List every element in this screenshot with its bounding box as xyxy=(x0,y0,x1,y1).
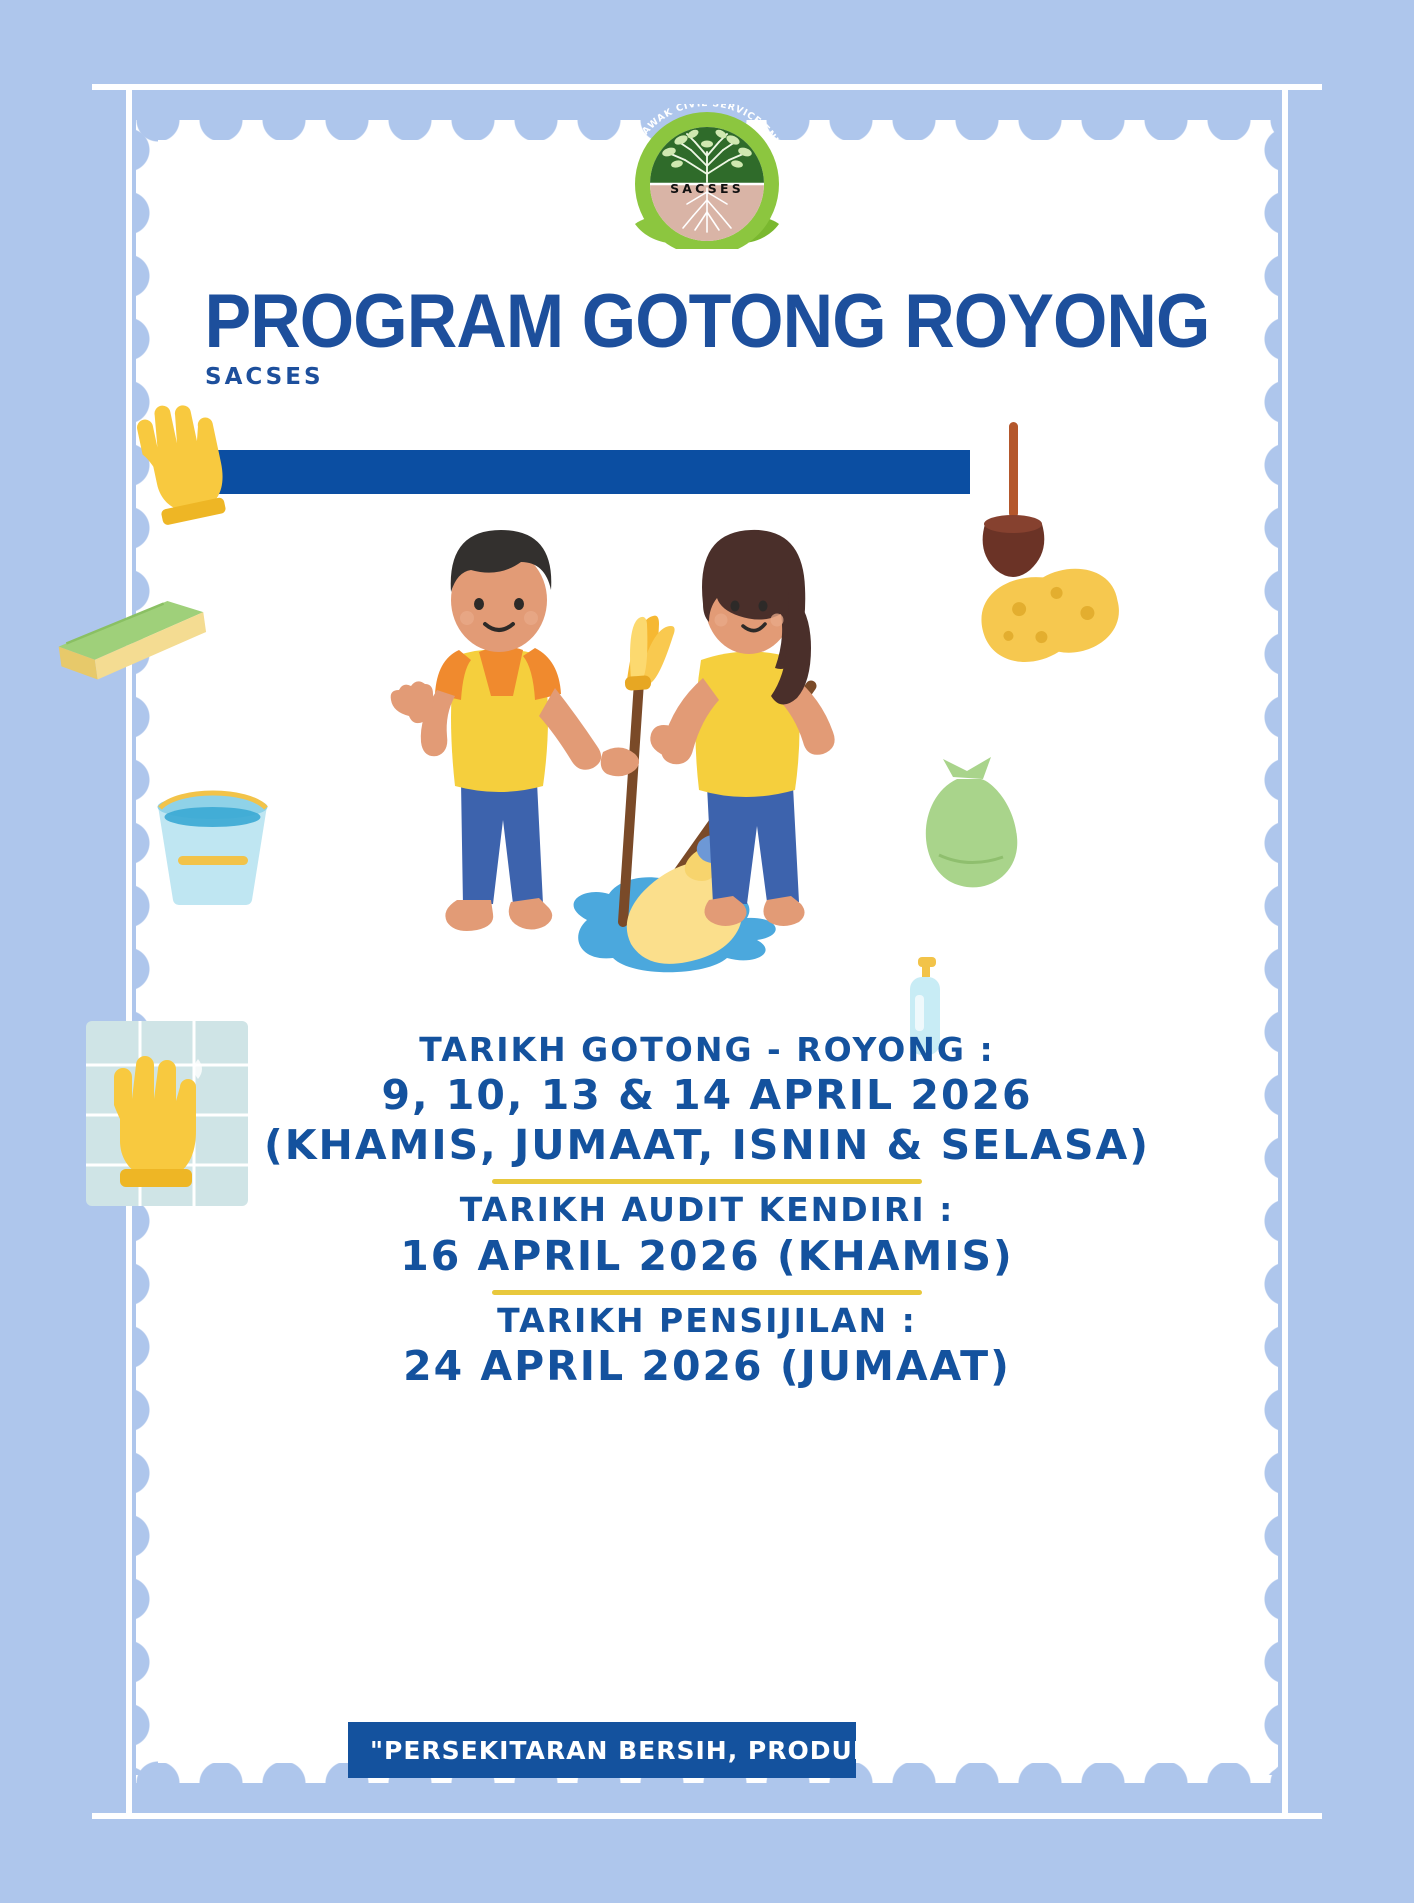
poster-root: SACSES STANDARD SARAWAK CIVIL SERVICE EN… xyxy=(0,0,1414,1903)
page-title: PROGRAM GOTONG ROYONG xyxy=(57,284,1358,360)
audit-kendiri-label: TARIKH AUDIT KENDIRI : xyxy=(0,1190,1414,1230)
yellow-glove-icon xyxy=(110,388,240,528)
gotong-royong-date: 9, 10, 13 & 14 APRIL 2026 xyxy=(0,1070,1414,1120)
tagline-ribbon: "PERSEKITARAN BERSIH, PRODUKTIVITI MENIN… xyxy=(348,1722,856,1778)
audit-kendiri-date: 16 APRIL 2026 (KHAMIS) xyxy=(0,1231,1414,1281)
frame-rule-bottom xyxy=(92,1813,1322,1819)
blue-bucket-icon xyxy=(140,770,285,910)
tagline-text: "PERSEKITARAN BERSIH, PRODUKTIVITI MENIN… xyxy=(348,1736,856,1765)
divider-rule-1 xyxy=(492,1179,922,1184)
cleaning-people-illustration xyxy=(387,500,1027,1020)
blue-placeholder-bar xyxy=(200,450,970,494)
sacses-logo: SACSES STANDARD SARAWAK CIVIL SERVICE EN… xyxy=(607,104,807,249)
svg-text:SACSES: SACSES xyxy=(670,181,744,196)
frame-rule-top xyxy=(92,84,1322,90)
page-subtitle: SACSES xyxy=(205,364,324,390)
gotong-royong-days: (KHAMIS, JUMAAT, ISNIN & SELASA) xyxy=(0,1120,1414,1170)
gotong-royong-label: TARIKH GOTONG - ROYONG : xyxy=(0,1030,1414,1070)
pensijilan-date: 24 APRIL 2026 (JUMAAT) xyxy=(0,1341,1414,1391)
divider-rule-2 xyxy=(492,1290,922,1295)
dates-block: TARIKH GOTONG - ROYONG : 9, 10, 13 & 14 … xyxy=(0,1030,1414,1391)
pensijilan-label: TARIKH PENSIJILAN : xyxy=(0,1301,1414,1341)
green-sponge-icon xyxy=(40,585,215,690)
